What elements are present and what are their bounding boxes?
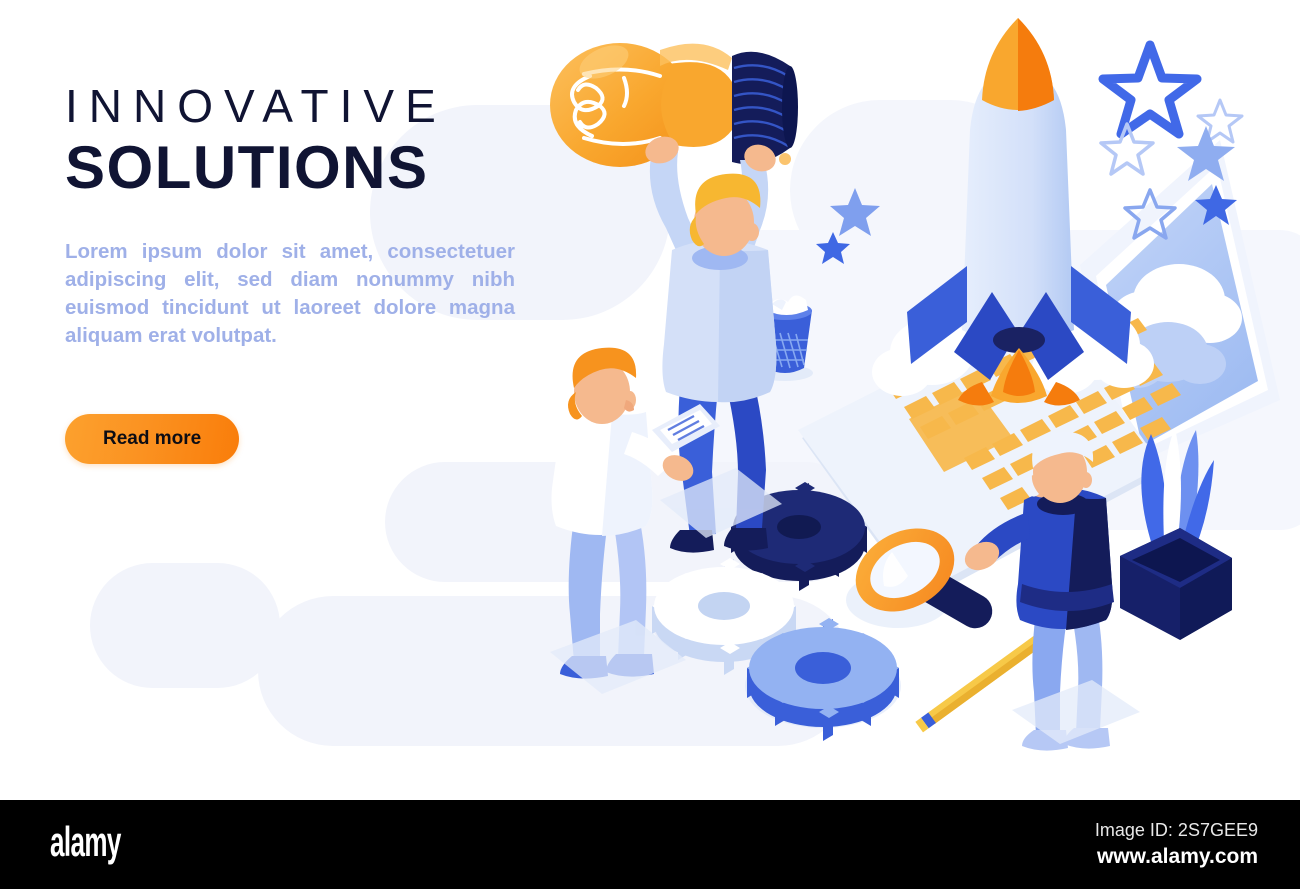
star-icon	[1103, 45, 1197, 134]
alamy-website-label: www.alamy.com	[1097, 845, 1258, 869]
read-more-button[interactable]: Read more	[65, 414, 239, 464]
background-blob	[90, 563, 280, 688]
hero-copy: INNOVATIVE SOLUTIONS Lorem ipsum dolor s…	[65, 82, 535, 350]
page-title-line1: INNOVATIVE	[65, 82, 535, 131]
star-icon	[830, 188, 880, 236]
illustration	[520, 0, 1300, 800]
image-id-label: Image ID: 2S7GEE9	[1095, 820, 1258, 841]
star-icon	[816, 232, 850, 264]
page-title-line2: SOLUTIONS	[65, 137, 535, 198]
hero-body-text: Lorem ipsum dolor sit amet, consectetuer…	[65, 238, 515, 350]
alamy-logo: alamy	[50, 818, 121, 866]
hero-banner: INNOVATIVE SOLUTIONS Lorem ipsum dolor s…	[0, 0, 1300, 800]
alamy-watermark-bar: alamy Image ID: 2S7GEE9 www.alamy.com	[0, 800, 1300, 889]
